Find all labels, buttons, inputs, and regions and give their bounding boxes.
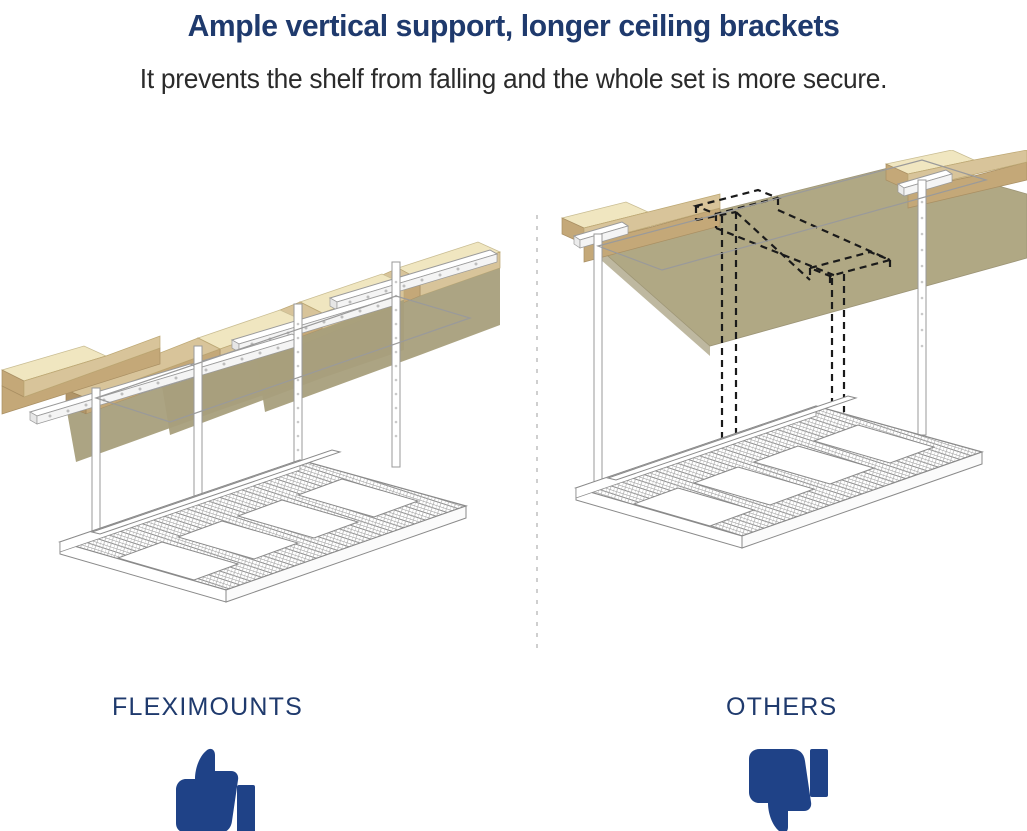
vertical-support-post-right <box>918 180 926 435</box>
vertical-support-post-2 <box>194 346 202 514</box>
thumbs-down-icon <box>738 745 828 831</box>
vertical-support-post-left <box>594 234 602 484</box>
fleximounts-illustration <box>0 150 520 670</box>
storage-rack-deck <box>60 450 466 602</box>
vertical-support-post-4 <box>392 262 400 467</box>
page-subtitle: It prevents the shelf from falling and t… <box>31 63 996 95</box>
infographic-page: Ample vertical support, longer ceiling b… <box>0 0 1027 826</box>
others-illustration <box>540 150 1027 670</box>
comparison-label-others: OTHERS <box>726 693 837 722</box>
page-title: Ample vertical support, longer ceiling b… <box>15 8 1011 44</box>
comparison-divider <box>536 215 538 655</box>
comparison-label-fleximounts: FLEXIMOUNTS <box>112 693 303 722</box>
thumbs-up-icon <box>165 745 255 831</box>
vertical-support-post-1 <box>92 388 100 538</box>
